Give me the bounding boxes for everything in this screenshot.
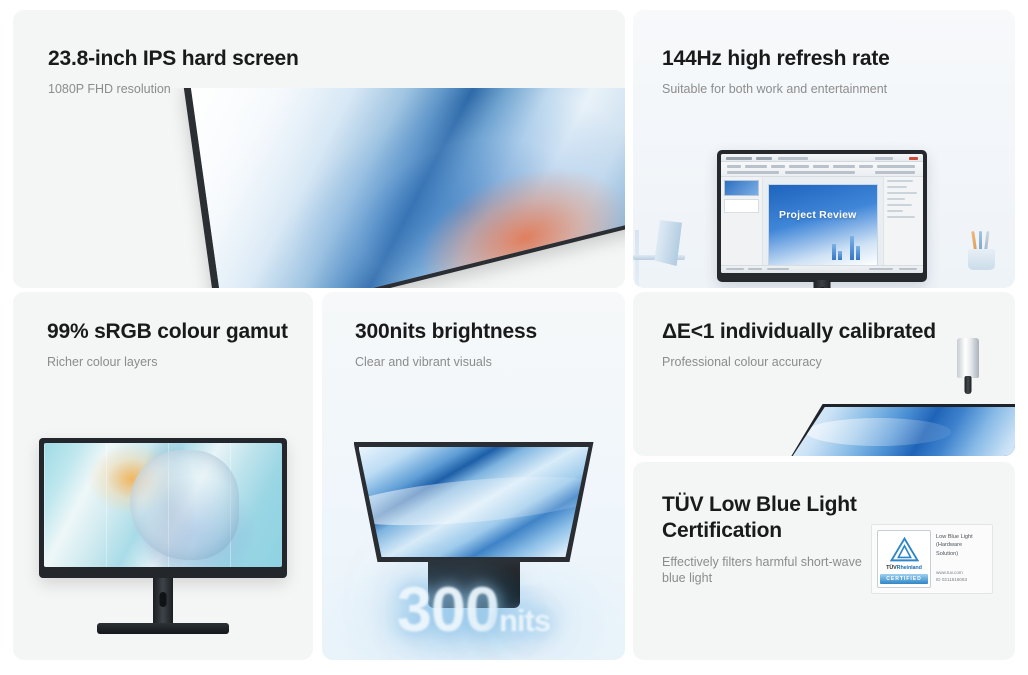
monitor-wallpaper (44, 443, 282, 567)
tuv-id: ID 0211616063 (936, 577, 987, 584)
card-screen-size: 23.8-inch IPS hard screen 1080P FHD reso… (13, 10, 625, 288)
monitor-bezel (789, 404, 1015, 456)
card-title: 23.8-inch IPS hard screen (48, 46, 299, 72)
card-brightness-text: 300nits brightness Clear and vibrant vis… (355, 319, 537, 371)
desk-setup-monitor-photo: Project Review (633, 118, 1015, 288)
card-tuv-certification: TÜV Low Blue Light Certification Effecti… (633, 462, 1015, 660)
card-delta-e: ΔE<1 individually calibrated Professiona… (633, 292, 1015, 456)
card-subtitle: Effectively filters harmful short-wave b… (662, 554, 877, 588)
brightness-glow-label: 300nits (397, 574, 550, 646)
monitor-bezel (39, 438, 287, 578)
card-brightness: 300nits brightness Clear and vibrant vis… (322, 292, 625, 660)
card-colour-gamut: 99% sRGB colour gamut Richer colour laye… (13, 292, 313, 660)
card-colour-gamut-text: 99% sRGB colour gamut Richer colour laye… (47, 319, 288, 371)
angled-monitor-photo (165, 88, 625, 288)
tuv-badge-info: Low Blue Light (Hardware Solution) www.t… (936, 530, 987, 588)
app-titlebar (721, 154, 923, 162)
card-refresh-rate-text: 144Hz high refresh rate Suitable for bot… (662, 46, 890, 98)
tuv-rheinland-certification-badge: TÜVRheinland CERTIFIED Low Blue Light (H… (871, 524, 993, 594)
tuv-triangle-icon (890, 537, 919, 562)
colorimeter-on-screen-photo (789, 380, 1015, 456)
slide-thumbnails (721, 177, 763, 273)
tuv-logo: TÜVRheinland CERTIFIED (877, 530, 931, 588)
app-ribbon (721, 162, 923, 177)
monitor-wallpaper (792, 407, 1015, 456)
card-title: 300nits brightness (355, 319, 537, 345)
card-subtitle: Suitable for both work and entertainment (662, 81, 890, 98)
card-subtitle: Professional colour accuracy (662, 354, 936, 371)
monitor-stand-base (97, 623, 229, 634)
tuv-certified-banner: CERTIFIED (880, 574, 928, 584)
card-title: ΔE<1 individually calibrated (662, 319, 936, 345)
glow-unit: nits (499, 603, 550, 638)
card-title: 99% sRGB colour gamut (47, 319, 288, 345)
monitor-wallpaper (191, 88, 625, 288)
front-monitor-photo (39, 438, 287, 638)
pencil-holder (965, 230, 999, 270)
monitor-device: Project Review (717, 150, 927, 282)
app-body: Project Review (721, 177, 923, 273)
card-title: TÜV Low Blue Light Certification (662, 492, 877, 545)
card-screen-size-text: 23.8-inch IPS hard screen 1080P FHD reso… (48, 46, 299, 98)
card-title: 144Hz high refresh rate (662, 46, 890, 72)
colorimeter-icon (957, 338, 979, 394)
card-subtitle: 1080P FHD resolution (48, 81, 299, 98)
slide-thumbnail-active (724, 180, 759, 196)
monitor-stand (814, 280, 831, 288)
card-refresh-rate: 144Hz high refresh rate Suitable for bot… (633, 10, 1015, 288)
slide-thumbnail (724, 199, 759, 213)
tuv-brand-text: TÜVRheinland (886, 565, 922, 571)
card-tuv-certification-text: TÜV Low Blue Light Certification Effecti… (662, 492, 877, 587)
tuv-badge-meta: www.tuv.com ID 0211616063 (936, 570, 987, 584)
app-statusbar (721, 265, 923, 273)
cup-icon (968, 249, 995, 270)
monitor-bezel (354, 442, 594, 562)
card-subtitle: Clear and vibrant visuals (355, 354, 537, 371)
monitor-stand-neck (153, 578, 173, 625)
monitor-screen: Project Review (721, 154, 923, 273)
slide: Project Review (768, 184, 877, 266)
card-delta-e-text: ΔE<1 individually calibrated Professiona… (662, 319, 936, 371)
format-panel (883, 177, 923, 273)
monitor-bezel (183, 88, 625, 288)
tilted-monitor-photo (354, 442, 594, 562)
card-subtitle: Richer colour layers (47, 354, 288, 371)
tuv-website: www.tuv.com (936, 570, 987, 577)
tuv-badge-description: Low Blue Light (Hardware Solution) (936, 533, 987, 558)
slide-canvas: Project Review (763, 177, 882, 273)
slide-title: Project Review (779, 209, 857, 221)
colorimeter-sensor (965, 376, 972, 394)
monitor-wallpaper (359, 447, 589, 557)
colorimeter-body (957, 338, 979, 378)
monitor-bezel: Project Review (717, 150, 927, 282)
glow-number: 300 (397, 575, 499, 645)
feature-card-grid: 23.8-inch IPS hard screen 1080P FHD reso… (0, 0, 1028, 675)
